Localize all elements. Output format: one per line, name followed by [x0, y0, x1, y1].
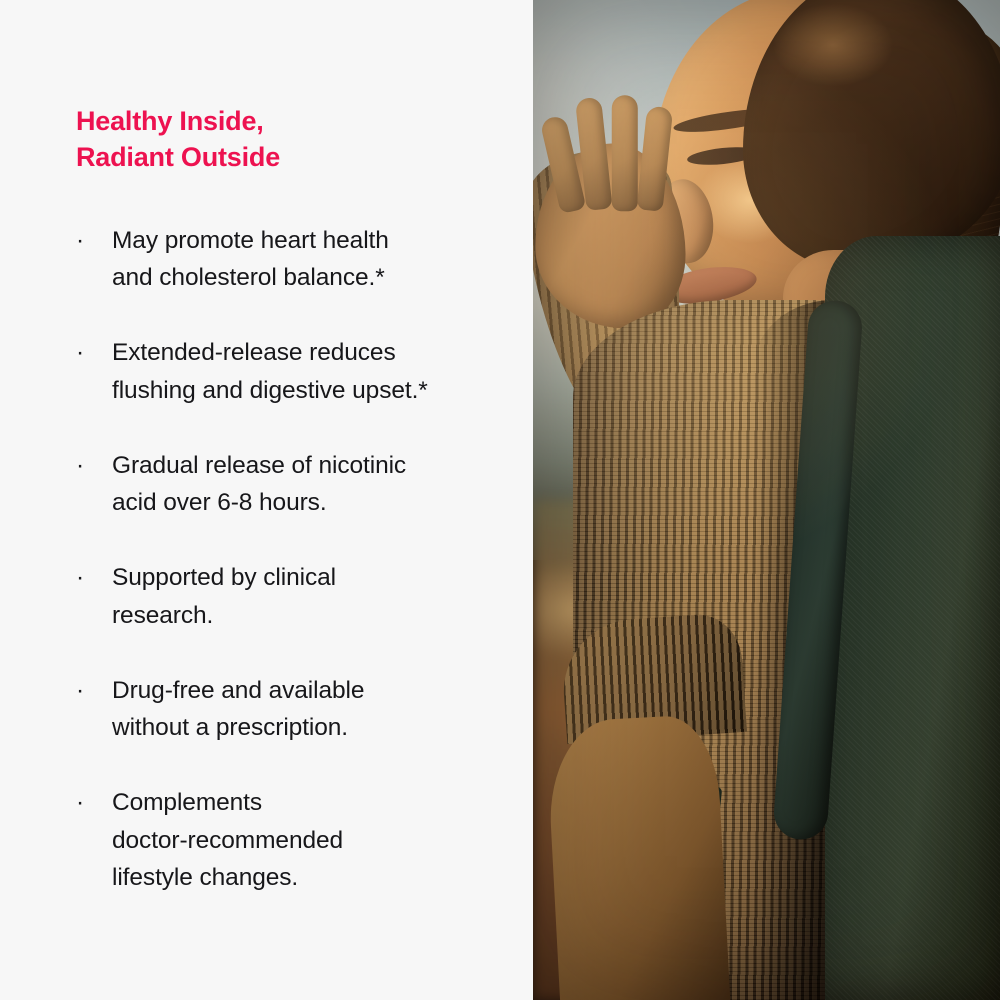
hair-highlight [753, 0, 913, 100]
bullet-icon: · [76, 672, 96, 709]
list-item: · Gradual release of nicotinic acid over… [70, 447, 520, 521]
list-item: · Drug-free and available without a pres… [70, 672, 520, 746]
bullet-icon: · [76, 559, 96, 596]
hair [743, 0, 1000, 270]
list-item: · Extended-release reduces flushing and … [70, 334, 520, 408]
list-item-label: Gradual release of nicotinic acid over 6… [112, 447, 520, 521]
list-item: · Complements doctor-recommended lifesty… [70, 784, 520, 896]
bullet-icon: · [76, 447, 96, 484]
under-layer [546, 714, 731, 1000]
finger [612, 95, 638, 211]
list-item-label: Complements doctor-recommended lifestyle… [112, 784, 520, 896]
bullet-icon: · [76, 222, 96, 259]
product-benefits-card: Healthy Inside, Radiant Outside · May pr… [0, 0, 1000, 1000]
list-item: · Supported by clinical research. [70, 559, 520, 633]
text-panel: Healthy Inside, Radiant Outside · May pr… [0, 0, 533, 1000]
page-title: Healthy Inside, Radiant Outside [76, 104, 496, 176]
list-item: · May promote heart health and cholester… [70, 222, 520, 296]
list-item-label: Extended-release reduces flushing and di… [112, 334, 520, 408]
photo-stage [533, 0, 1000, 1000]
list-item-label: Drug-free and available without a prescr… [112, 672, 520, 746]
list-item-label: May promote heart health and cholesterol… [112, 222, 520, 296]
lifestyle-photo [533, 0, 1000, 1000]
list-item-label: Supported by clinical research. [112, 559, 520, 633]
benefits-list: · May promote heart health and cholester… [70, 222, 520, 896]
bullet-icon: · [76, 784, 96, 821]
bullet-icon: · [76, 334, 96, 371]
